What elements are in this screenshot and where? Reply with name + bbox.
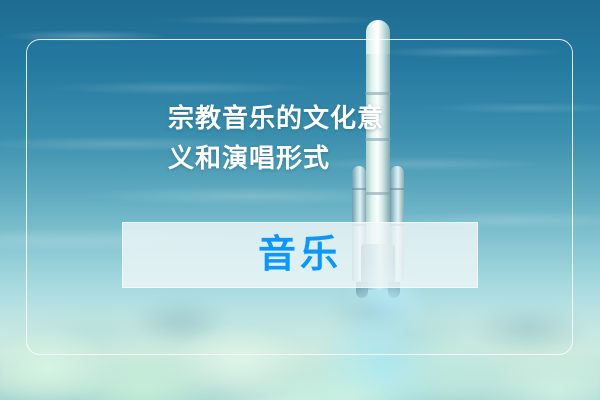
banner-title: 宗教音乐的文化意义和演唱形式 <box>168 98 388 178</box>
rocket-band <box>365 192 391 195</box>
booster-band <box>352 188 366 190</box>
category-button-label: 音乐 <box>258 236 342 274</box>
booster-band <box>390 188 404 190</box>
background-photo <box>0 0 600 400</box>
category-button[interactable]: 音乐 <box>122 222 478 288</box>
banner-title-text: 宗教音乐的文化意义和演唱形式 <box>168 103 384 173</box>
banner-image: 宗教音乐的文化意义和演唱形式 音乐 <box>0 0 600 400</box>
rocket-band <box>365 92 391 95</box>
